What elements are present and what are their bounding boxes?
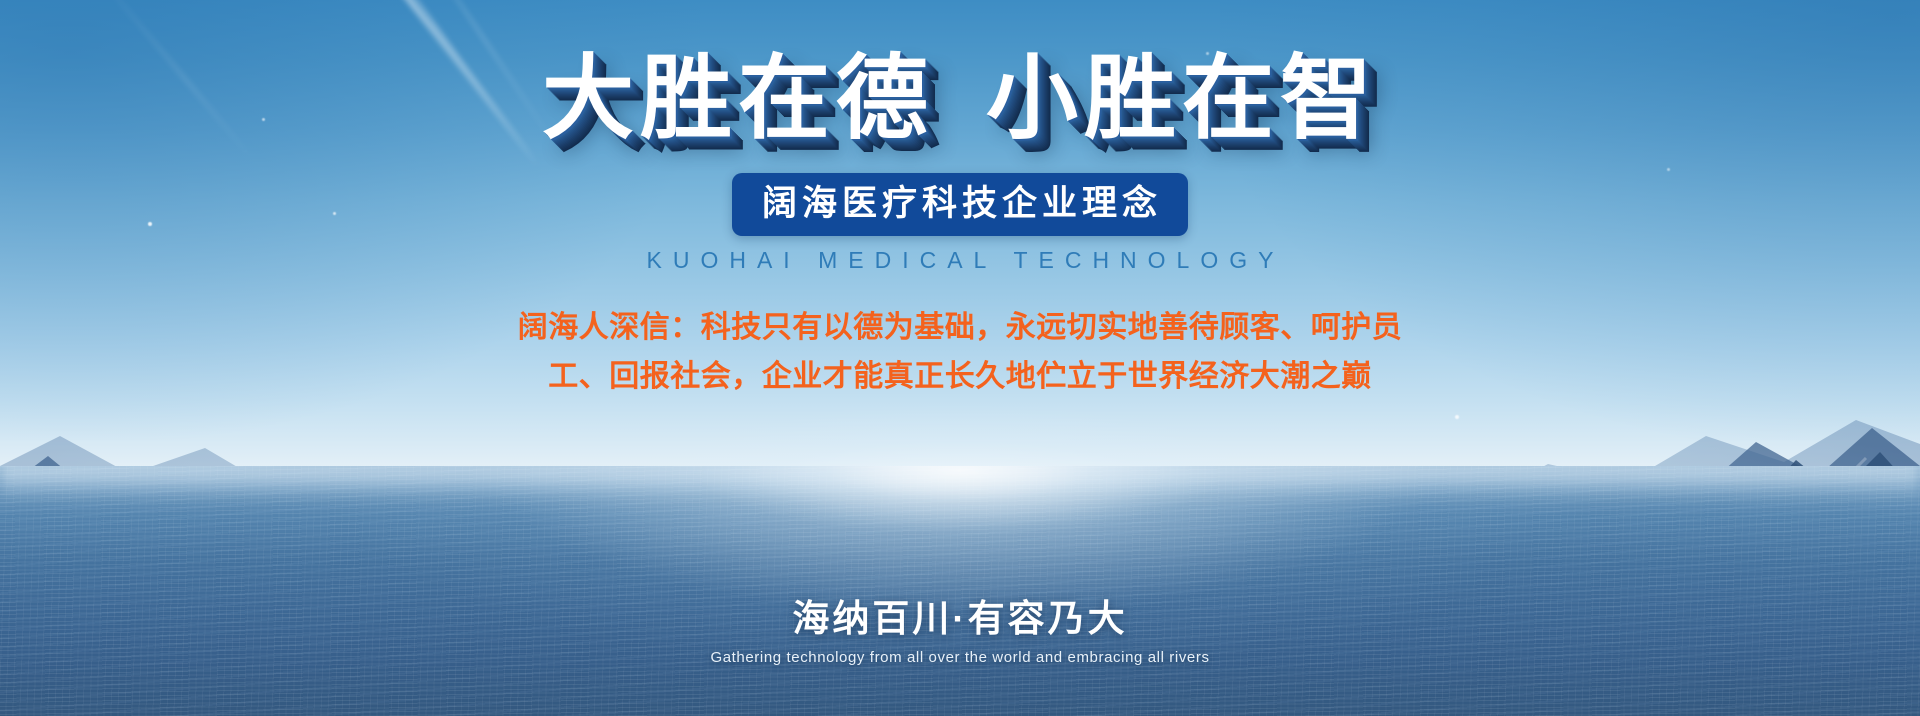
- motto-chinese: 海纳百川·有容乃大: [0, 588, 1920, 642]
- statement-line-2: 工、回报社会，企业才能真正长久地伫立于世界经济大潮之巅: [430, 353, 1490, 402]
- page-title: 大胜在德小胜在智: [542, 48, 1378, 151]
- statement-line-1: 阔海人深信：科技只有以德为基础，永远切实地善待顾客、呵护员: [430, 304, 1490, 353]
- light-streak-icon: [279, 0, 540, 170]
- sparkle-icon: [262, 118, 265, 121]
- sparkle-icon: [1455, 415, 1459, 419]
- company-name-english: KUOHAI MEDICAL TECHNOLOGY: [636, 247, 1285, 274]
- philosophy-statement: 阔海人深信：科技只有以德为基础，永远切实地善待顾客、呵护员 工、回报社会，企业才…: [430, 304, 1490, 401]
- light-streak-icon: [218, 0, 542, 169]
- sea-light-reflection: [580, 466, 1340, 606]
- motto-block: 海纳百川·有容乃大 Gathering technology from all …: [0, 588, 1920, 666]
- headline-part-2: 小胜在智: [986, 48, 1378, 150]
- sparkle-icon: [333, 212, 336, 215]
- company-philosophy-badge: 阔海医疗科技企业理念: [732, 173, 1188, 236]
- sparkle-icon: [1667, 168, 1670, 171]
- light-streak-icon: [372, 0, 558, 148]
- sparkle-icon: [148, 222, 152, 226]
- motto-english: Gathering technology from all over the w…: [0, 649, 1920, 666]
- headline-part-1: 大胜在德: [542, 48, 934, 150]
- light-streak-icon: [86, 0, 255, 161]
- hero-banner: 大胜在德小胜在智 阔海医疗科技企业理念 KUOHAI MEDICAL TECHN…: [0, 0, 1920, 716]
